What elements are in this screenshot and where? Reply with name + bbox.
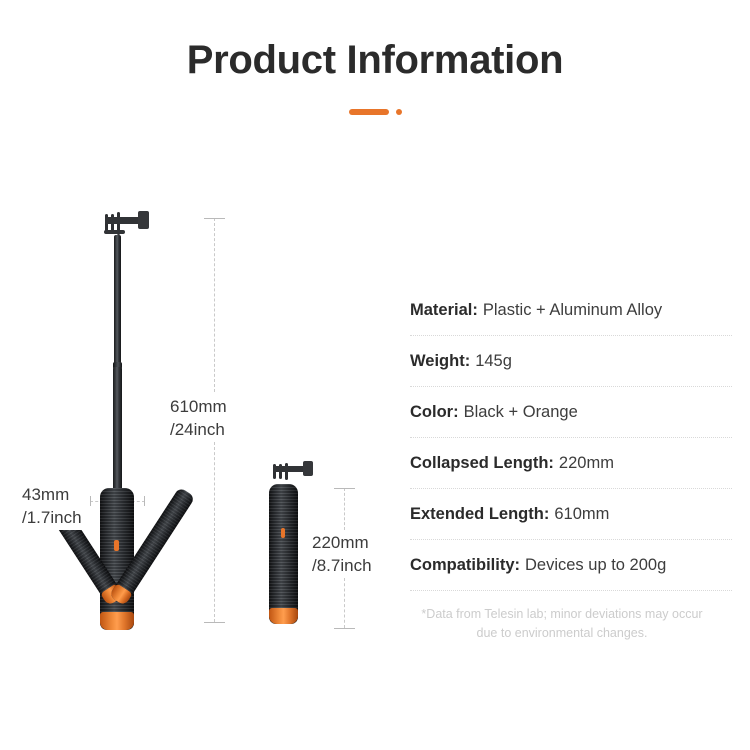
page-header: Product Information <box>0 0 750 140</box>
collapsed-measure-line-lower <box>344 578 346 628</box>
spec-row-compatibility: Compatibility: Devices up to 200g <box>410 540 732 591</box>
spec-value-compatibility: Devices up to 200g <box>525 556 666 575</box>
width-dimension-label: 43mm /1.7inch <box>22 484 82 530</box>
height-dimension-inch: /24inch <box>170 419 227 442</box>
collapsed-grip-texture <box>269 484 298 624</box>
spec-row-material: Material: Plastic + Aluminum Alloy <box>410 285 732 336</box>
grip-texture <box>100 488 134 630</box>
spec-label-extended-length: Extended Length: <box>410 505 549 524</box>
divider-dot-icon <box>396 109 402 115</box>
grip-release-button <box>114 540 119 551</box>
width-dimension-inch: /1.7inch <box>22 507 82 530</box>
height-measure-line-lower <box>214 442 216 622</box>
collapsed-measure-cap-bottom <box>334 628 355 629</box>
collapsed-dimension-label: 220mm /8.7inch <box>312 532 372 578</box>
spec-label-weight: Weight: <box>410 352 470 371</box>
collapsed-grip-body <box>269 484 298 624</box>
collapsed-measure-line-upper <box>344 488 346 530</box>
collapsed-release-button <box>281 528 285 538</box>
width-dimension-mm: 43mm <box>22 484 82 507</box>
collapsed-dimension-inch: /8.7inch <box>312 555 372 578</box>
spec-value-extended-length: 610mm <box>554 505 609 524</box>
spec-row-extended-length: Extended Length: 610mm <box>410 489 732 540</box>
page-title: Product Information <box>0 38 750 83</box>
gopro-mount-collapsed-icon <box>269 460 327 484</box>
spec-label-collapsed-length: Collapsed Length: <box>410 454 554 473</box>
height-measure-cap-bottom <box>204 622 225 623</box>
divider-dash-icon <box>349 109 389 115</box>
spec-row-color: Color: Black + Orange <box>410 387 732 438</box>
spec-label-material: Material: <box>410 301 478 320</box>
height-measure-line-upper <box>214 218 216 392</box>
height-dimension-mm: 610mm <box>170 396 227 419</box>
accent-divider <box>0 107 750 117</box>
gopro-mount-icon <box>100 210 160 238</box>
tripod-grip-body <box>100 488 134 630</box>
spec-value-weight: 145g <box>475 352 512 371</box>
width-measure-cap-left <box>90 496 91 506</box>
height-dimension-label: 610mm /24inch <box>170 396 227 442</box>
spec-value-material: Plastic + Aluminum Alloy <box>483 301 662 320</box>
pole-section-middle <box>113 367 122 502</box>
pole-section-top <box>114 235 121 365</box>
spec-label-compatibility: Compatibility: <box>410 556 520 575</box>
spec-footnote: *Data from Telesin lab; minor deviations… <box>410 605 732 643</box>
collapsed-dimension-mm: 220mm <box>312 532 372 555</box>
specification-list: Material: Plastic + Aluminum Alloy Weigh… <box>410 285 732 643</box>
collapsed-measure-cap-top <box>334 488 355 489</box>
spec-label-color: Color: <box>410 403 459 422</box>
height-measure-cap-top <box>204 218 225 219</box>
spec-row-weight: Weight: 145g <box>410 336 732 387</box>
spec-value-color: Black + Orange <box>464 403 578 422</box>
spec-row-collapsed-length: Collapsed Length: 220mm <box>410 438 732 489</box>
grip-base-cap <box>100 612 134 630</box>
width-measure-cap-right <box>144 496 145 506</box>
collapsed-base-cap <box>269 608 298 624</box>
spec-value-collapsed-length: 220mm <box>559 454 614 473</box>
